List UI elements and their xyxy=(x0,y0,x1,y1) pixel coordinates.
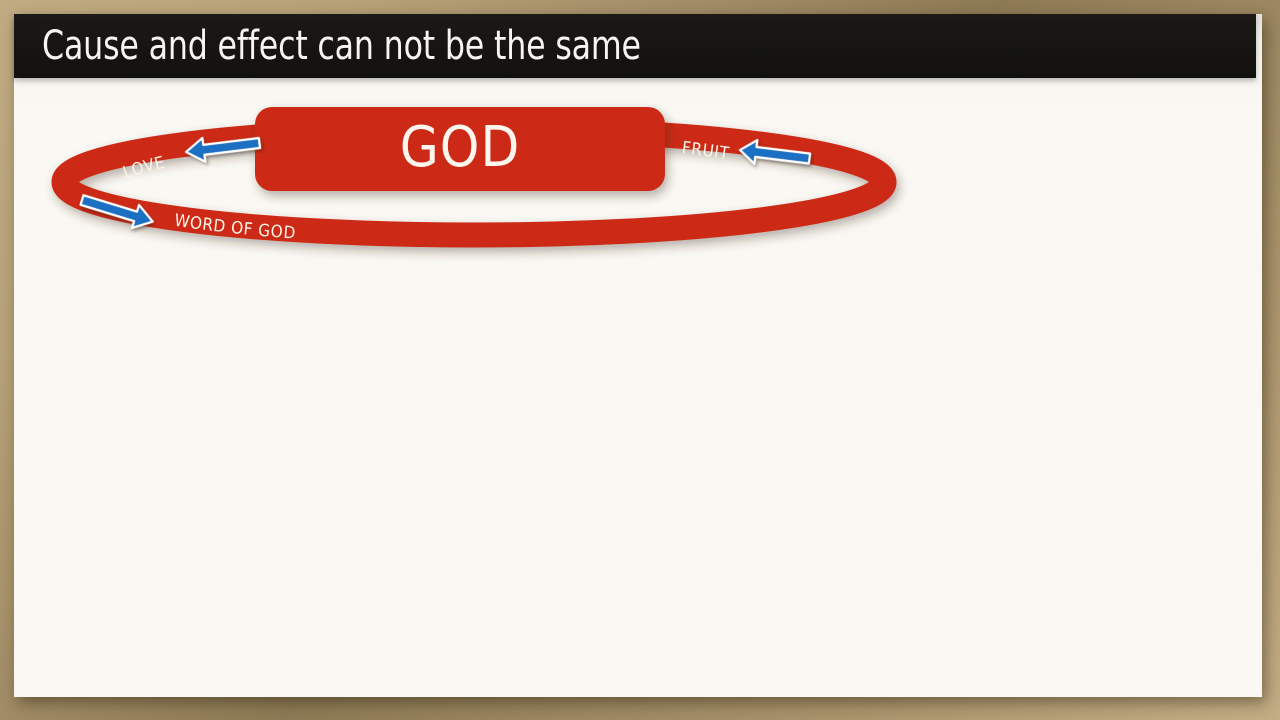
cycle-diagram: GOD LOVE FRUIT WORD OF GOD xyxy=(14,78,1262,378)
god-node-label: GOD xyxy=(400,115,521,180)
slide-root: Cause and effect can not be the same xyxy=(0,0,1280,720)
page-title: Cause and effect can not be the same xyxy=(42,23,641,69)
title-banner: Cause and effect can not be the same xyxy=(14,14,1256,78)
god-node[interactable]: GOD xyxy=(255,107,665,191)
